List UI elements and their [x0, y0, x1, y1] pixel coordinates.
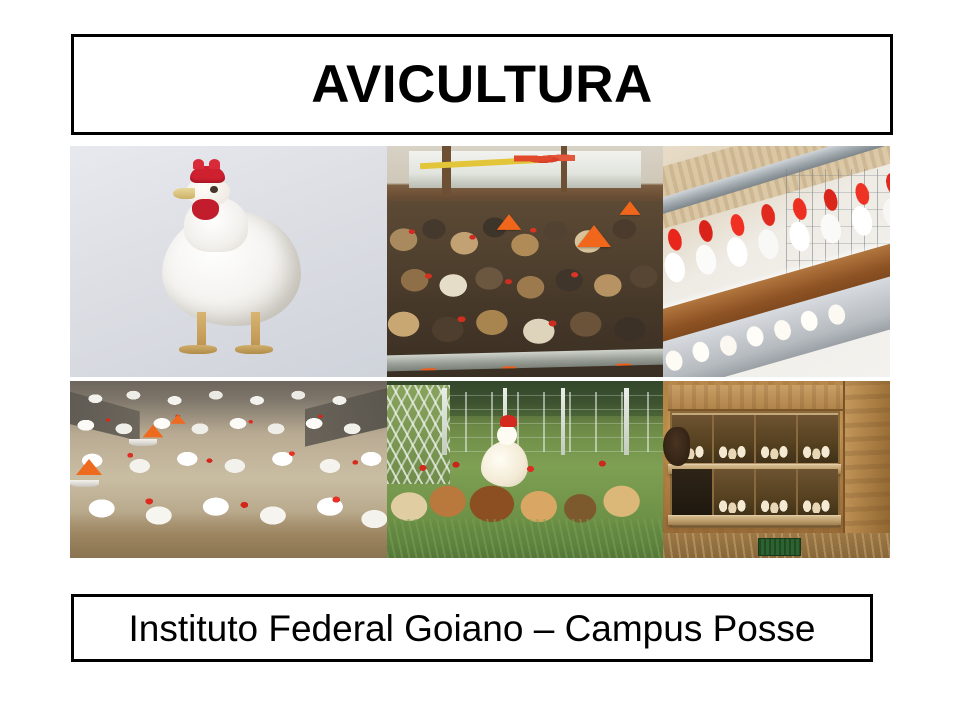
- white-broiler-studio-photo: [70, 146, 387, 377]
- cone-feeder-3: [620, 201, 641, 215]
- pasture-background: [387, 381, 663, 558]
- fence-post-4: [624, 388, 628, 455]
- nest-eggs: [717, 442, 751, 459]
- broiler-comb: [190, 166, 225, 183]
- nest-eggs: [759, 496, 793, 513]
- drinker-nipple-2: [502, 366, 516, 368]
- broiler-leg-right: [251, 312, 261, 347]
- wooden-post: [843, 381, 890, 558]
- barn-interior: [387, 146, 663, 377]
- white-rooster-head: [497, 425, 516, 444]
- broiler-leg-left: [197, 312, 207, 347]
- foreground-grass: [387, 519, 663, 558]
- broiler-house-interior: [70, 381, 387, 558]
- cage-house: [663, 146, 890, 377]
- nest-eggs: [801, 442, 835, 459]
- photo-grid: [70, 146, 890, 558]
- nest-eggs: [759, 442, 793, 459]
- flock-combs: [387, 215, 663, 354]
- drinker-nipple-3: [617, 363, 631, 365]
- broiler-wattle: [192, 199, 219, 220]
- nest-eggs: [801, 496, 835, 513]
- hanging-feeder-3: [76, 459, 102, 475]
- white-rooster-comb: [500, 415, 517, 427]
- nest-eggs: [717, 496, 751, 513]
- presentation-slide: AVICULTURA: [0, 0, 960, 720]
- green-tray: [758, 538, 801, 556]
- feeder-pan-3: [70, 480, 99, 487]
- broiler-foot-left: [179, 345, 217, 354]
- broiler-flock-combs: [70, 381, 387, 558]
- nest-row-upper: [672, 415, 838, 462]
- broiler-foot-right: [235, 345, 273, 354]
- studio-background: [70, 146, 387, 377]
- nest-compartment: [798, 469, 838, 516]
- fence-post-1: [442, 388, 446, 455]
- title-box: AVICULTURA: [71, 34, 893, 135]
- nest-perch-lower: [668, 515, 841, 525]
- mixed-flock-barn-photo: [387, 146, 663, 377]
- nest-row-lower: [672, 469, 838, 516]
- nest-compartment: [714, 469, 756, 516]
- broiler-beak: [173, 188, 195, 200]
- hanging-feeder-2: [170, 414, 186, 424]
- coop-interior: [663, 381, 890, 558]
- hanging-feeder-1: [142, 425, 163, 438]
- cone-feeder-1: [497, 214, 521, 230]
- institution-caption: Instituto Federal Goiano – Campus Posse: [129, 610, 816, 647]
- hanging-equipment: [514, 153, 575, 165]
- broiler-eye: [210, 186, 218, 193]
- barn-post-left: [442, 146, 451, 197]
- dark-hen: [663, 427, 690, 466]
- nest-compartment: [798, 415, 838, 462]
- caption-box: Instituto Federal Goiano – Campus Posse: [71, 594, 873, 662]
- nest-compartment: [672, 469, 714, 516]
- cone-feeder-2: [577, 225, 611, 247]
- wooden-nest-boxes-photo: [663, 381, 890, 558]
- free-range-hens-photo: [387, 381, 663, 558]
- fence-post-3: [561, 388, 565, 455]
- nest-box-unit: [670, 411, 840, 528]
- free-range-hen-combs: [387, 452, 663, 505]
- nest-compartment: [714, 415, 756, 462]
- nest-compartment: [756, 469, 798, 516]
- wall-plank: [668, 385, 845, 412]
- caged-layers-photo: [663, 146, 890, 377]
- page-title: AVICULTURA: [311, 58, 653, 111]
- nest-compartment: [756, 415, 798, 462]
- drinker-nipple-1: [422, 368, 436, 370]
- broiler-house-photo: [70, 381, 387, 558]
